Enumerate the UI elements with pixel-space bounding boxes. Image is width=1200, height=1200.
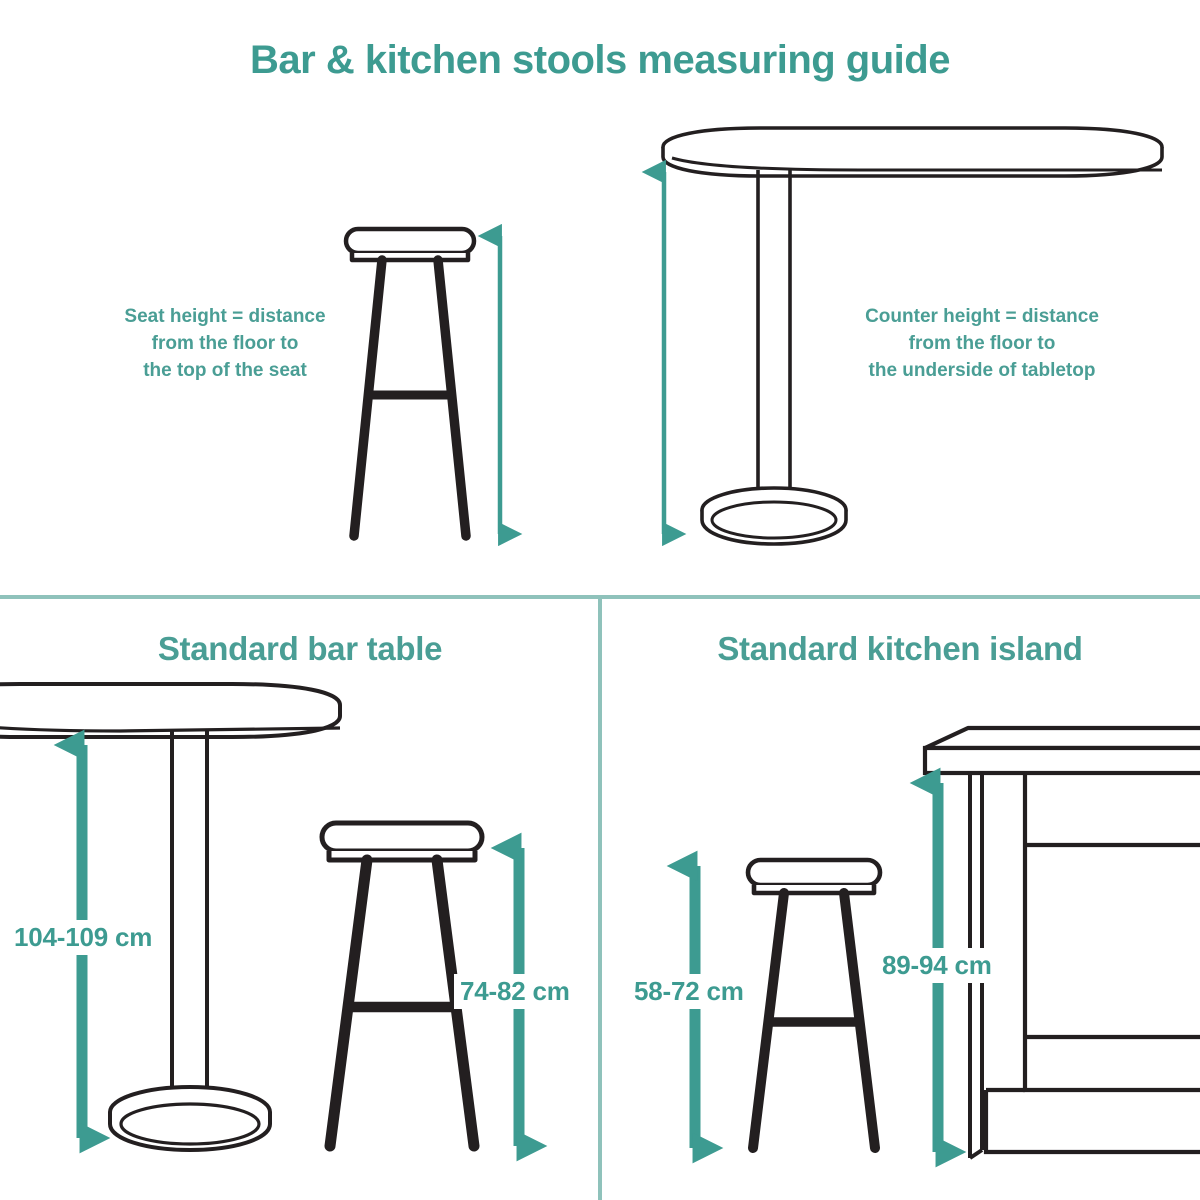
bar-table-height-label: 104-109 cm bbox=[8, 920, 158, 955]
illustration-layer bbox=[0, 0, 1200, 1200]
counter-height-caption-line-1: Counter height = distance bbox=[838, 304, 1126, 331]
panel-heading-bar-table: Standard bar table bbox=[0, 630, 600, 668]
standard-bar-table-illustration bbox=[0, 684, 340, 1150]
kitchen-island-illustration bbox=[925, 728, 1200, 1158]
counter-height-caption-line-3: the underside of tabletop bbox=[838, 358, 1126, 385]
kitchen-stool-height-label: 58-72 cm bbox=[628, 974, 750, 1009]
counter-height-caption: Counter height = distance from the floor… bbox=[838, 304, 1126, 385]
counter-height-caption-line-2: from the floor to bbox=[838, 331, 1126, 358]
panel-heading-kitchen-island: Standard kitchen island bbox=[600, 630, 1200, 668]
seat-height-caption-line-1: Seat height = distance bbox=[100, 304, 350, 331]
kitchen-island-height-label: 89-94 cm bbox=[876, 948, 998, 983]
bar-stool-illustration bbox=[346, 229, 474, 536]
infographic-root: Bar & kitchen stools measuring guide bbox=[0, 0, 1200, 1200]
seat-height-caption-line-2: from the floor to bbox=[100, 331, 350, 358]
seat-height-caption: Seat height = distance from the floor to… bbox=[100, 304, 350, 385]
seat-height-caption-line-3: the top of the seat bbox=[100, 358, 350, 385]
bar-stool-height-label: 74-82 cm bbox=[454, 974, 576, 1009]
kitchen-stool-illustration bbox=[748, 860, 880, 1148]
